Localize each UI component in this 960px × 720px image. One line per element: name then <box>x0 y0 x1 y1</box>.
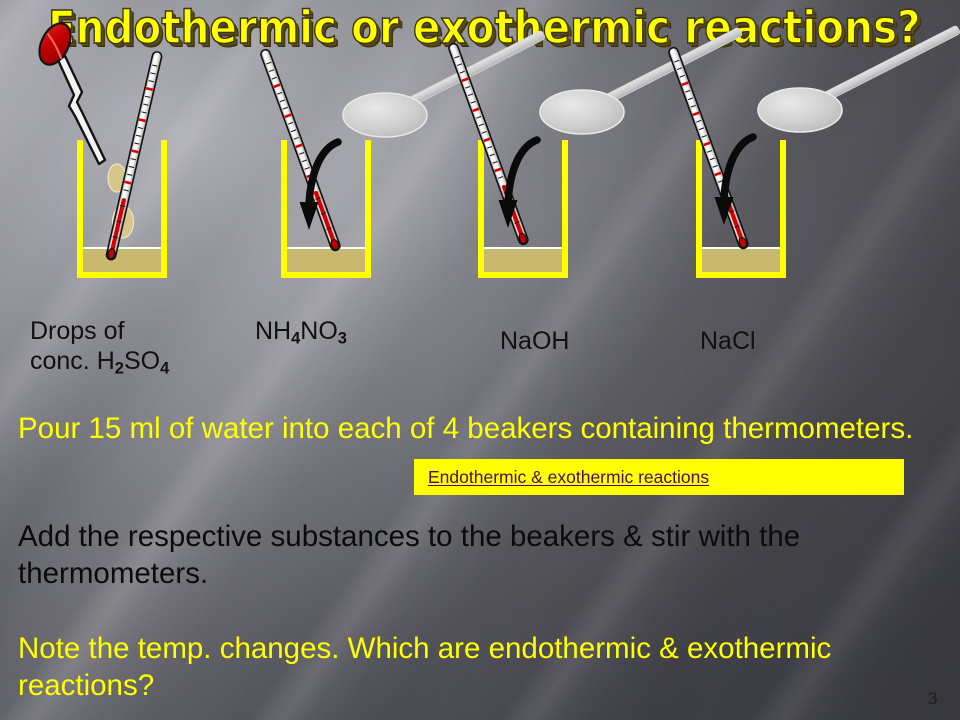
beaker-label-2: NH4NO3 <box>255 316 347 354</box>
endothermic-exothermic-link[interactable]: Endothermic & exothermic reactions <box>428 467 709 488</box>
page-number: 3 <box>928 689 938 708</box>
beaker-group-4 <box>668 25 960 275</box>
instruction-paragraph-3: Note the temp. changes. Which are endoth… <box>18 630 928 704</box>
beaker-label-3: NaOH <box>500 326 569 356</box>
instruction-paragraph-2: Add the respective substances to the bea… <box>18 518 928 592</box>
beaker-label-4: NaCl <box>700 326 756 356</box>
beaker-group-1 <box>33 18 164 275</box>
experiment-diagram <box>0 0 960 300</box>
beaker-label-1-text: Drops ofconc. H2SO4 <box>30 317 169 375</box>
beaker-label-4-text: NaCl <box>700 327 756 355</box>
instruction-paragraph-1: Pour 15 ml of water into each of 4 beake… <box>18 410 928 447</box>
beaker-label-1: Drops ofconc. H2SO4 <box>30 316 260 384</box>
beaker-label-2-text: NH4NO3 <box>255 317 347 345</box>
beaker-label-3-text: NaOH <box>500 327 569 355</box>
hyperlink-box[interactable]: Endothermic & exothermic reactions <box>414 459 904 495</box>
beaker-group-2 <box>260 30 546 275</box>
slide-canvas: Endothermic or exothermic reactions? <box>0 0 960 720</box>
